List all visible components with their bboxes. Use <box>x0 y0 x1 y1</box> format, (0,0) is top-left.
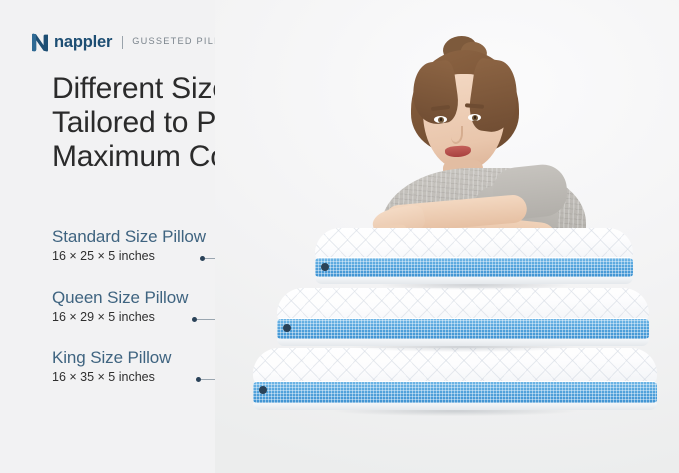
pillow-king <box>253 348 657 410</box>
size-title-standard: Standard Size Pillow <box>52 226 206 247</box>
size-title-queen: Queen Size Pillow <box>52 287 188 308</box>
infographic-canvas: nappler GUSSETED PILLOW Different Size T… <box>0 0 679 473</box>
zipper-pull-icon <box>321 263 329 271</box>
brand-header: nappler GUSSETED PILLOW <box>30 30 239 54</box>
size-dimensions-king: 16 × 35 × 5 inches <box>52 369 155 385</box>
pillow-blue-gusset <box>315 257 633 278</box>
pillow-queen <box>277 288 649 346</box>
size-dimensions-queen: 16 × 29 × 5 inches <box>52 309 155 325</box>
pillow-blue-gusset <box>253 381 657 404</box>
pillow-base <box>277 339 649 346</box>
pillow-base <box>315 277 633 284</box>
eye-left <box>434 116 447 123</box>
zipper-pull-icon <box>283 324 291 332</box>
brand-divider <box>122 36 123 49</box>
brand-wordmark: nappler <box>54 34 112 51</box>
size-label-standard: Standard Size Pillow 16 × 25 × 5 inches <box>52 226 206 264</box>
size-dimensions-standard: 16 × 25 × 5 inches <box>52 248 155 264</box>
pillow-standard <box>315 228 633 284</box>
eye-right <box>468 114 481 121</box>
nappler-n-logo-icon <box>30 32 50 53</box>
model-figure <box>365 40 595 250</box>
size-label-queen: Queen Size Pillow 16 × 29 × 5 inches <box>52 287 188 325</box>
product-photo <box>215 0 679 473</box>
size-title-king: King Size Pillow <box>52 347 171 368</box>
pillow-base <box>253 403 657 410</box>
size-label-king: King Size Pillow 16 × 35 × 5 inches <box>52 347 171 385</box>
pillow-blue-gusset <box>277 318 649 340</box>
